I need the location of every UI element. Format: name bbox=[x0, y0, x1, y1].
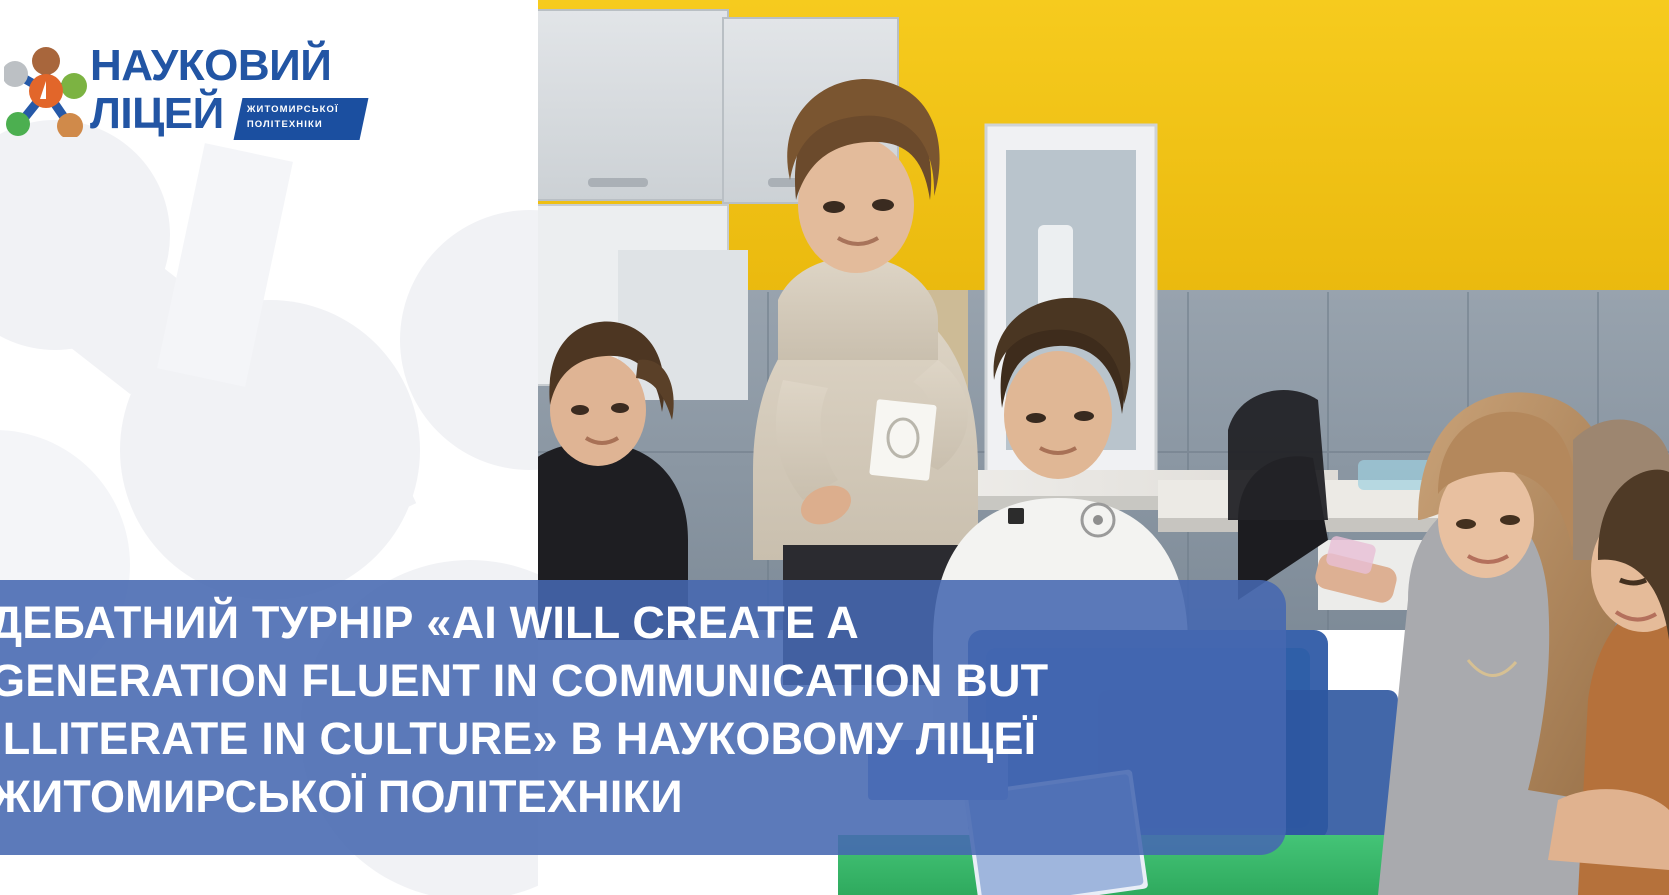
logo-badge: ЖИТОМИРСЬКОЇ ПОЛІТЕХНІКИ bbox=[234, 98, 369, 140]
article-title-banner: ДЕБАТНИЙ ТУРНІР «AI WILL CREATE A GENERA… bbox=[0, 580, 1286, 855]
logo-wordmark: НАУКОВИЙ ЛІЦЕЙ ЖИТОМИРСЬКОЇ ПОЛІТЕХНІКИ bbox=[90, 40, 370, 150]
logo-word-naukovyi: НАУКОВИЙ bbox=[90, 44, 331, 88]
article-title: ДЕБАТНИЙ ТУРНІР «AI WILL CREATE A GENERA… bbox=[0, 594, 1048, 826]
title-line-4: ЖИТОМИРСЬКОЇ ПОЛІТЕХНІКИ bbox=[0, 771, 683, 822]
molecule-atom-icon bbox=[4, 45, 88, 137]
logo-badge-line-2: ПОЛІТЕХНІКИ bbox=[247, 117, 365, 132]
site-logo[interactable]: НАУКОВИЙ ЛІЦЕЙ ЖИТОМИРСЬКОЇ ПОЛІТЕХНІКИ bbox=[4, 40, 374, 150]
title-line-1: ДЕБАТНИЙ ТУРНІР «AI WILL CREATE A bbox=[0, 597, 859, 648]
logo-word-litsei: ЛІЦЕЙ bbox=[90, 92, 224, 136]
logo-badge-line-1: ЖИТОМИРСЬКОЇ bbox=[247, 102, 365, 117]
title-line-2: GENERATION FLUENT IN COMMUNICATION BUT bbox=[0, 655, 1048, 706]
title-line-3: ILLITERATE IN CULTURE» В НАУКОВОМУ ЛІЦЕЇ bbox=[0, 713, 1036, 764]
poster-canvas: НАУКОВИЙ ЛІЦЕЙ ЖИТОМИРСЬКОЇ ПОЛІТЕХНІКИ bbox=[0, 0, 1669, 895]
